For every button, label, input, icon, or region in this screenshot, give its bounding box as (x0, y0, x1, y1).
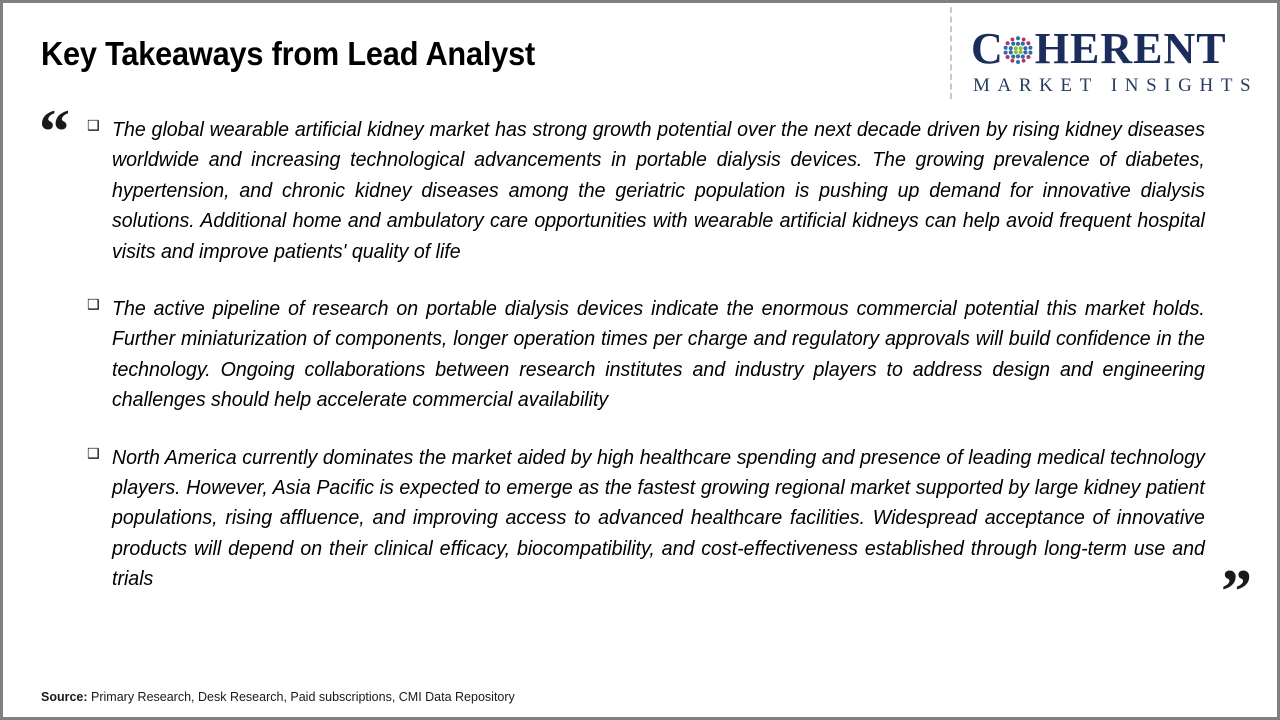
source-label: Source: (41, 690, 88, 704)
square-bullet-icon: ❑ (87, 298, 100, 312)
slide-header: Key Takeaways from Lead Analyst C (3, 3, 1277, 103)
logo-tagline: MARKET INSIGHTS (973, 75, 1258, 97)
square-bullet-icon: ❑ (87, 447, 100, 461)
source-line: Source: Primary Research, Desk Research,… (41, 690, 515, 704)
page-title: Key Takeaways from Lead Analyst (41, 35, 535, 73)
company-logo: C (971, 25, 1267, 99)
takeaways-list: ❑ The global wearable artificial kidney … (87, 115, 1205, 595)
logo-wordmark: C (971, 25, 1267, 73)
square-bullet-icon: ❑ (87, 119, 100, 133)
source-value: Primary Research, Desk Research, Paid su… (88, 690, 515, 704)
closing-quote-icon: ” (1221, 561, 1252, 623)
list-item-text: The active pipeline of research on porta… (112, 294, 1205, 416)
globe-dot-icon (1001, 33, 1035, 67)
slide-root: Key Takeaways from Lead Analyst C (0, 0, 1280, 720)
list-item: ❑ North America currently dominates the … (87, 443, 1205, 595)
opening-quote-icon: “ (39, 101, 70, 163)
logo-letters-herent: HERENT (1035, 24, 1227, 73)
header-dashed-divider (950, 7, 952, 99)
list-item: ❑ The active pipeline of research on por… (87, 294, 1205, 416)
logo-letter-c: C (971, 24, 1003, 73)
list-item-text: North America currently dominates the ma… (112, 443, 1205, 595)
list-item-text: The global wearable artificial kidney ma… (112, 115, 1205, 267)
list-item: ❑ The global wearable artificial kidney … (87, 115, 1205, 267)
